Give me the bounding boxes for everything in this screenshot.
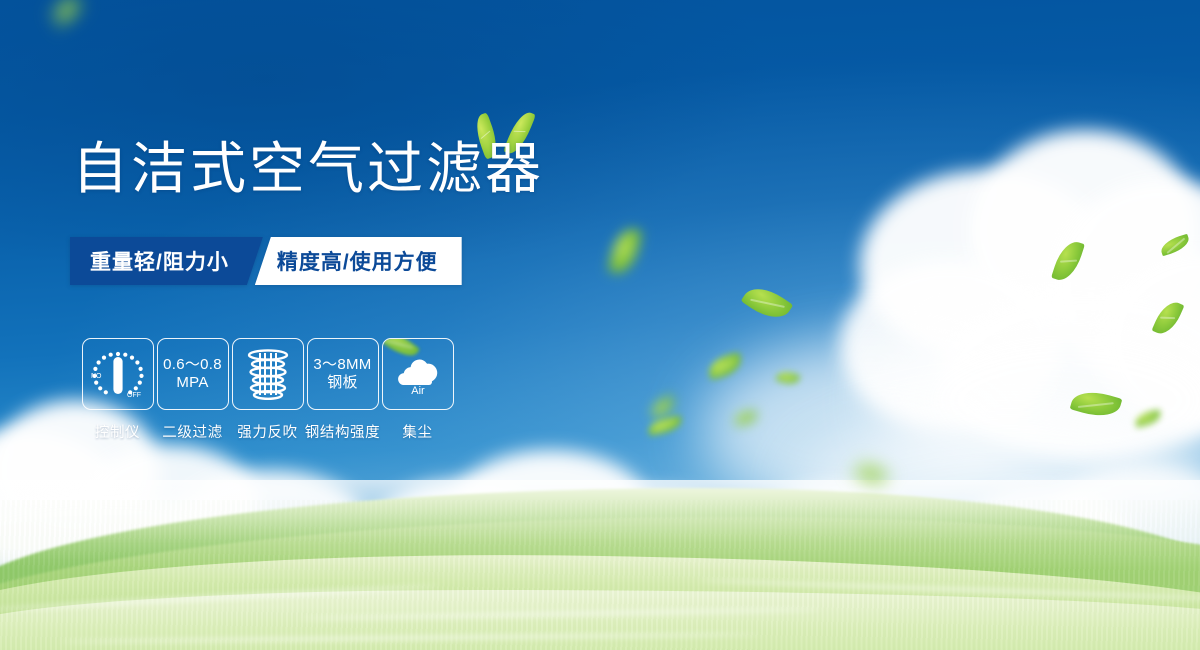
gauge-icon: NO OFF [87,344,149,404]
steel-thickness: 3～8MM [313,356,371,374]
product-banner: 自洁式空气过滤器 重量轻/阻力小 精度高/使用方便 [0,0,1200,650]
feature-tile: Air [382,338,454,410]
air-label: Air [411,385,425,396]
page-title: 自洁式空气过滤器 [72,140,544,199]
gauge-label-off: OFF [127,392,141,399]
subtitle-right: 精度高/使用方便 [255,237,462,285]
feature-caption: 强力反吹 [237,421,297,442]
feature-tile: 0.6～0.8 MPA [157,338,229,410]
feature-item-steel[interactable]: 3～8MM 钢板 钢结构强度 [305,338,380,442]
feature-caption: 钢结构强度 [305,421,381,442]
feature-list: NO OFF 控制仪 0.6～0.8 MPA 二级过滤 [80,338,455,442]
feature-tile: NO OFF [82,338,154,410]
feature-item-control-gauge[interactable]: NO OFF 控制仪 [80,338,155,442]
steel-material: 钢板 [327,374,358,392]
feature-caption: 控制仪 [95,421,140,442]
feature-item-dust-collection[interactable]: Air 集尘 [380,338,455,442]
feature-item-backblow[interactable]: 强力反吹 [230,338,305,442]
subtitle-bar: 重量轻/阻力小 精度高/使用方便 [70,237,462,285]
pressure-value: 0.6～0.8 [163,356,222,374]
filter-cartridge-icon [240,345,296,403]
feature-caption: 二级过滤 [162,421,222,442]
gauge-label-no: NO [91,373,102,380]
pressure-unit: MPA [176,374,208,392]
feature-caption: 集尘 [402,421,432,442]
subtitle-left: 重量轻/阻力小 [70,237,263,285]
feature-tile: 3～8MM 钢板 [307,338,379,410]
cloud-air-icon: Air [390,352,446,396]
feature-tile [232,338,304,410]
feature-item-pressure[interactable]: 0.6～0.8 MPA 二级过滤 [155,338,230,442]
grass-texture-overlay [0,500,1200,650]
